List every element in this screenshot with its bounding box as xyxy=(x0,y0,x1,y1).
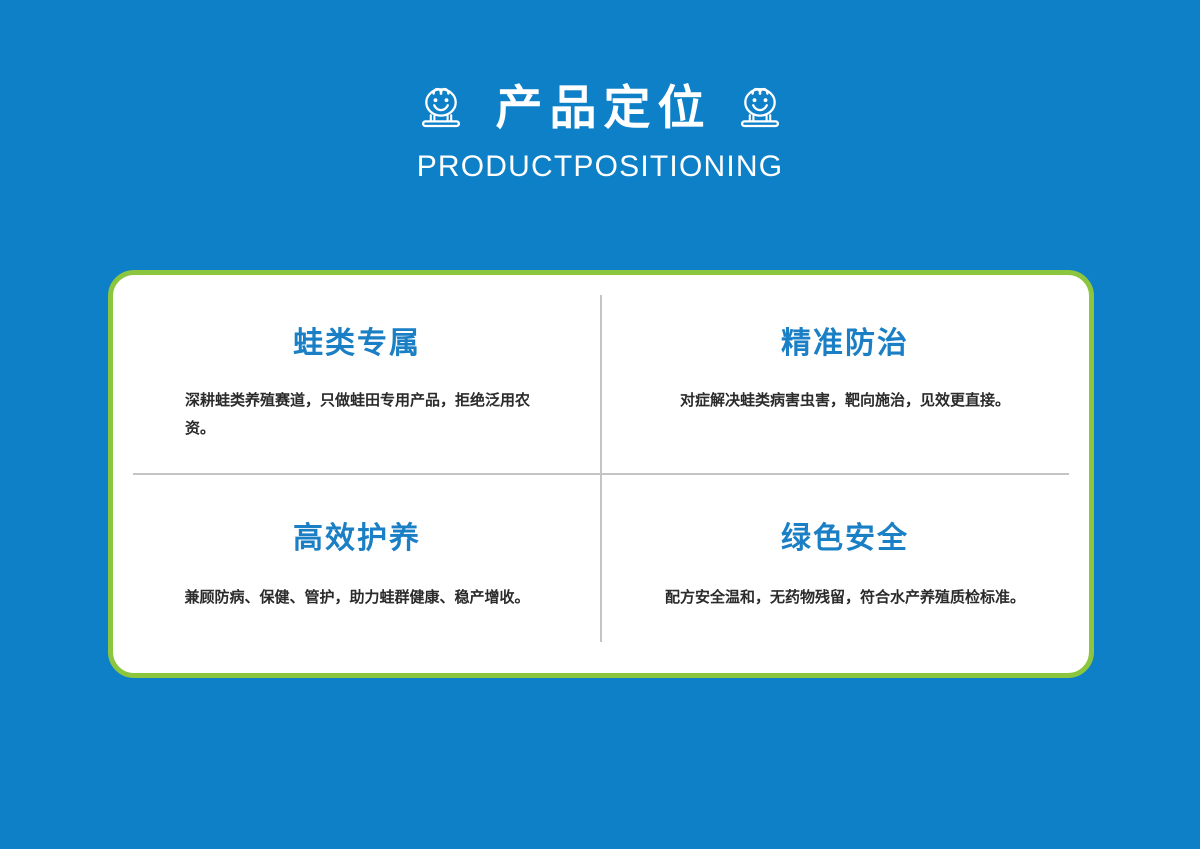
feature-cell-frog-exclusive: 蛙类专属 深耕蛙类养殖赛道，只做蛙田专用产品，拒绝泛用农资。 xyxy=(113,275,601,474)
feature-body: 对症解决蛙类病害虫害，靶向施治，见效更直接。 xyxy=(650,387,1040,415)
feature-cell-green-safe: 绿色安全 配方安全温和，无药物残留，符合水产养殖质检标准。 xyxy=(601,474,1089,673)
frog-icon xyxy=(738,84,782,130)
poster-canvas: 产品定位 PRODUCTPOSITIONING 蛙 xyxy=(0,0,1200,849)
feature-body: 配方安全温和，无药物残留，符合水产养殖质检标准。 xyxy=(650,584,1040,612)
feature-body: 深耕蛙类养殖赛道，只做蛙田专用产品，拒绝泛用农资。 xyxy=(167,387,547,443)
page-title: 产品定位 xyxy=(489,84,712,131)
feature-title: 高效护养 xyxy=(293,524,421,554)
header: 产品定位 PRODUCTPOSITIONING xyxy=(0,76,1200,182)
feature-title: 精准防治 xyxy=(781,329,909,359)
title-row: 产品定位 xyxy=(0,76,1200,138)
feature-title: 绿色安全 xyxy=(781,524,909,554)
frog-icon xyxy=(419,84,463,130)
feature-cell-precise-control: 精准防治 对症解决蛙类病害虫害，靶向施治，见效更直接。 xyxy=(601,275,1089,474)
feature-body: 兼顾防病、保健、管护，助力蛙群健康、稳产增收。 xyxy=(162,584,552,612)
feature-card: 蛙类专属 深耕蛙类养殖赛道，只做蛙田专用产品，拒绝泛用农资。 精准防治 对症解决… xyxy=(108,270,1094,678)
feature-grid: 蛙类专属 深耕蛙类养殖赛道，只做蛙田专用产品，拒绝泛用农资。 精准防治 对症解决… xyxy=(113,275,1089,673)
feature-cell-efficient-care: 高效护养 兼顾防病、保健、管护，助力蛙群健康、稳产增收。 xyxy=(113,474,601,673)
feature-title: 蛙类专属 xyxy=(293,329,421,359)
page-subtitle: PRODUCTPOSITIONING xyxy=(0,152,1200,182)
